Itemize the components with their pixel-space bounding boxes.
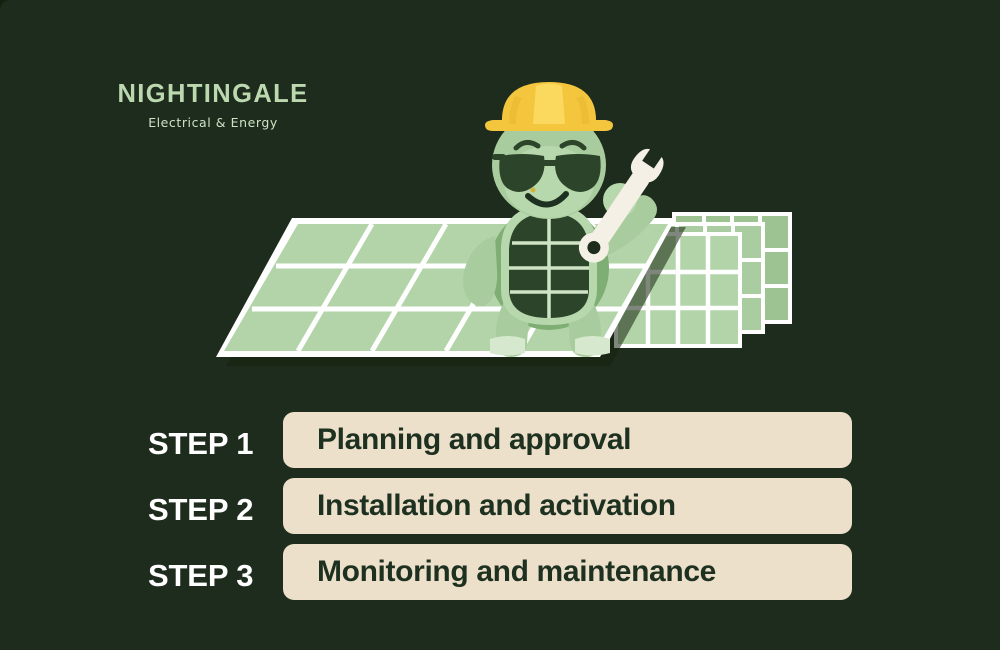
step-label-1: STEP 1 (148, 412, 274, 476)
hard-hat-icon (485, 82, 613, 131)
step-row: STEP 1 Planning and approval (0, 412, 1000, 476)
poster-canvas: NIGHTINGALE Electrical & Energy (0, 0, 1000, 650)
step-row: STEP 2 Installation and activation (0, 478, 1000, 542)
step-text-3: Monitoring and maintenance (317, 555, 716, 589)
step-row: STEP 3 Monitoring and maintenance (0, 544, 1000, 608)
step-label-2: STEP 2 (148, 478, 274, 542)
hero-illustration (0, 0, 1000, 400)
step-text-1: Planning and approval (317, 423, 631, 457)
step-label-3: STEP 3 (148, 544, 274, 608)
turtle-plastron (501, 205, 597, 325)
steps-list: STEP 1 Planning and approval STEP 2 Inst… (0, 412, 1000, 610)
step-pill-1[interactable]: Planning and approval (283, 412, 852, 468)
step-text-2: Installation and activation (317, 489, 676, 523)
step-pill-3[interactable]: Monitoring and maintenance (283, 544, 852, 600)
step-pill-2[interactable]: Installation and activation (283, 478, 852, 534)
